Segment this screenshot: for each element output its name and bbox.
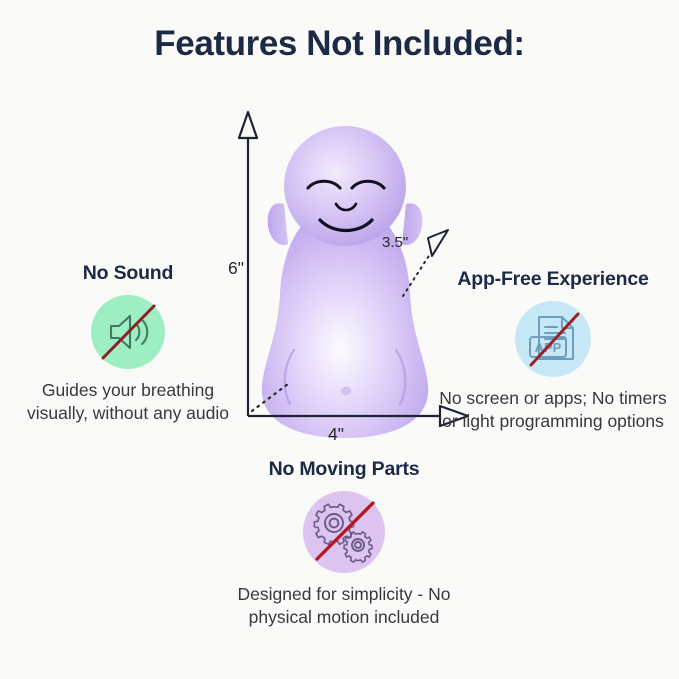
feature-no-sound-title: No Sound	[12, 262, 244, 285]
product-illustration	[262, 126, 428, 438]
app-document-icon-badge: APP	[515, 301, 591, 377]
speaker-muted-icon-badge	[91, 295, 165, 369]
feature-no-moving-parts-title: No Moving Parts	[228, 458, 460, 481]
feature-no-sound-description: Guides your breathing visually, without …	[12, 379, 244, 425]
feature-app-free-experience: App-Free Experience APP No screen or app…	[437, 268, 669, 433]
feature-no-sound: No Sound Guides your breathing visually,…	[12, 262, 244, 425]
feature-app-free-description: No screen or apps; No timers or light pr…	[437, 387, 669, 433]
feature-app-free-title: App-Free Experience	[437, 268, 669, 291]
depth-dimension-label: 3.5"	[382, 234, 408, 251]
gears-icon-badge	[303, 491, 385, 573]
width-dimension-label: 4"	[328, 424, 344, 445]
feature-no-moving-parts: No Moving Parts	[228, 458, 460, 629]
infographic-page: Features Not Included:	[0, 0, 679, 679]
feature-no-moving-parts-description: Designed for simplicity - No physical mo…	[228, 583, 460, 629]
page-title: Features Not Included:	[0, 24, 679, 64]
